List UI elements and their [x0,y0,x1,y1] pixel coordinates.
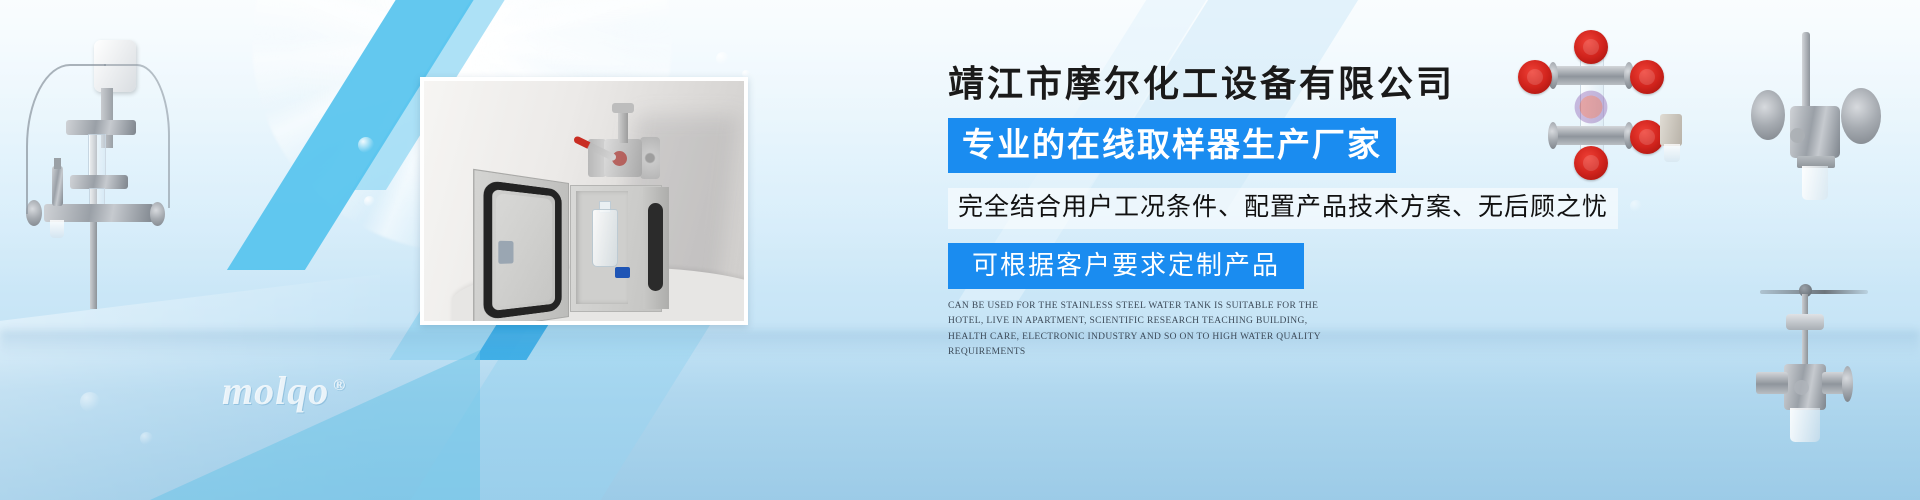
sampling-valve-assembly [582,105,664,189]
sample-bottle [50,220,64,238]
handwheel-icon [1630,60,1664,94]
door-lock-icon [498,241,513,264]
side-collector [1660,114,1682,146]
english-description: CAN BE USED FOR THE STAINLESS STEEL WATE… [948,299,1343,361]
valve-flange-right [640,137,660,179]
sample-bottle [1802,166,1828,200]
tagline-badge: 专业的在线取样器生产厂家 [948,118,1396,173]
valve-stem [618,109,628,143]
bubble-icon [716,52,729,65]
banner-copy: 靖江市摩尔化工设备有限公司 专业的在线取样器生产厂家 完全结合用户工况条件、配置… [948,66,1608,361]
cabinet-door [473,169,569,325]
bubble-icon [1630,200,1642,212]
right-lever-valve-product [1745,28,1910,213]
tubing-loop-left [26,64,106,214]
custom-note-badge: 可根据客户要求定制产品 [948,243,1304,289]
bubble-icon [80,392,100,412]
lever-handle [1802,32,1810,112]
watermark-text: molqo [222,368,329,413]
brand-watermark: molqo® [222,367,346,414]
company-name: 靖江市摩尔化工设备有限公司 [948,66,1608,102]
handwheel-bar [1760,290,1868,294]
cabinet-side-gasket [648,203,663,291]
brand-badge-icon [1790,128,1805,143]
valve-top-cap [612,103,634,113]
left-product-assembly [8,28,188,313]
inlet-pipe [1756,372,1788,394]
flange-left [1751,90,1785,140]
bonnet-nut [1786,314,1824,330]
subline-text: 完全结合用户工况条件、配置产品技术方案、无后顾之忧 [948,188,1618,229]
registered-mark-icon: ® [333,377,346,394]
bubble-icon [364,196,375,207]
blue-bottle-cap [615,267,630,278]
handwheel-icon [1630,120,1664,154]
brand-badge-icon [1794,380,1809,395]
main-product-photo [420,77,748,325]
right-bottom-valve-product [1760,272,1920,452]
sample-bottle [592,209,618,267]
sample-bottle [1790,408,1820,442]
outlet-flange [1842,366,1853,402]
bubble-icon [358,137,374,153]
flange-right [1841,88,1881,144]
tubing-loop-right [104,64,170,208]
bubble-icon [140,432,153,445]
product-banner: 靖江市摩尔化工设备有限公司 专业的在线取样器生产厂家 完全结合用户工况条件、配置… [0,0,1920,500]
handwheel-icon [1574,30,1608,64]
side-sample-bottle [1664,144,1680,162]
